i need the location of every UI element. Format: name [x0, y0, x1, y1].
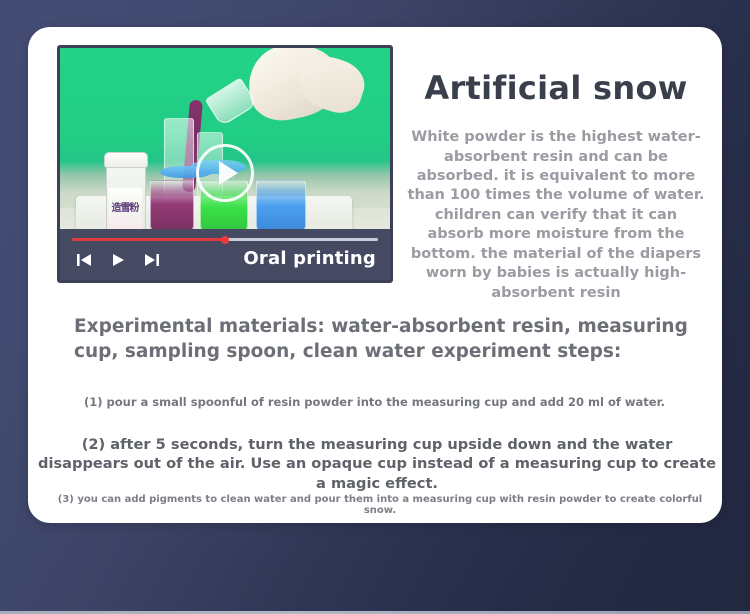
progress-bar-fill [72, 238, 225, 241]
product-description: White powder is the highest water-absorb… [406, 128, 706, 303]
video-player[interactable]: 造雪粉 [57, 45, 393, 283]
content-card: 造雪粉 [28, 27, 722, 523]
play-triangle-icon [219, 161, 238, 185]
cup-purple [150, 180, 194, 234]
step-3-text: (3) you can add pigments to clean water … [50, 494, 710, 516]
page-title: Artificial snow [406, 71, 706, 106]
step-2-text: (2) after 5 seconds, turn the measuring … [36, 435, 718, 493]
progress-bar-handle[interactable] [221, 236, 229, 244]
powder-bottle-label-text: 造雪粉 [112, 204, 139, 214]
top-section: 造雪粉 [28, 27, 722, 292]
intro-panel: Artificial snow White powder is the high… [406, 53, 706, 317]
play-circle-icon[interactable] [196, 144, 254, 202]
powder-bottle-label: 造雪粉 [108, 188, 142, 230]
play-icon[interactable] [108, 251, 128, 269]
player-control-bar: Oral printing [60, 229, 390, 280]
experimental-materials-text: Experimental materials: water-absorbent … [74, 315, 698, 364]
step-1-text: (1) pour a small spoonful of resin powde… [84, 395, 704, 409]
progress-bar[interactable] [72, 238, 378, 241]
page-root: 造雪粉 [0, 0, 750, 614]
video-title-overlay: Oral printing [243, 248, 376, 269]
next-track-icon[interactable] [142, 251, 162, 269]
transport-controls [74, 251, 162, 269]
previous-track-icon[interactable] [74, 251, 94, 269]
powder-bottle-cap [104, 152, 148, 168]
cup-blue [256, 180, 306, 234]
